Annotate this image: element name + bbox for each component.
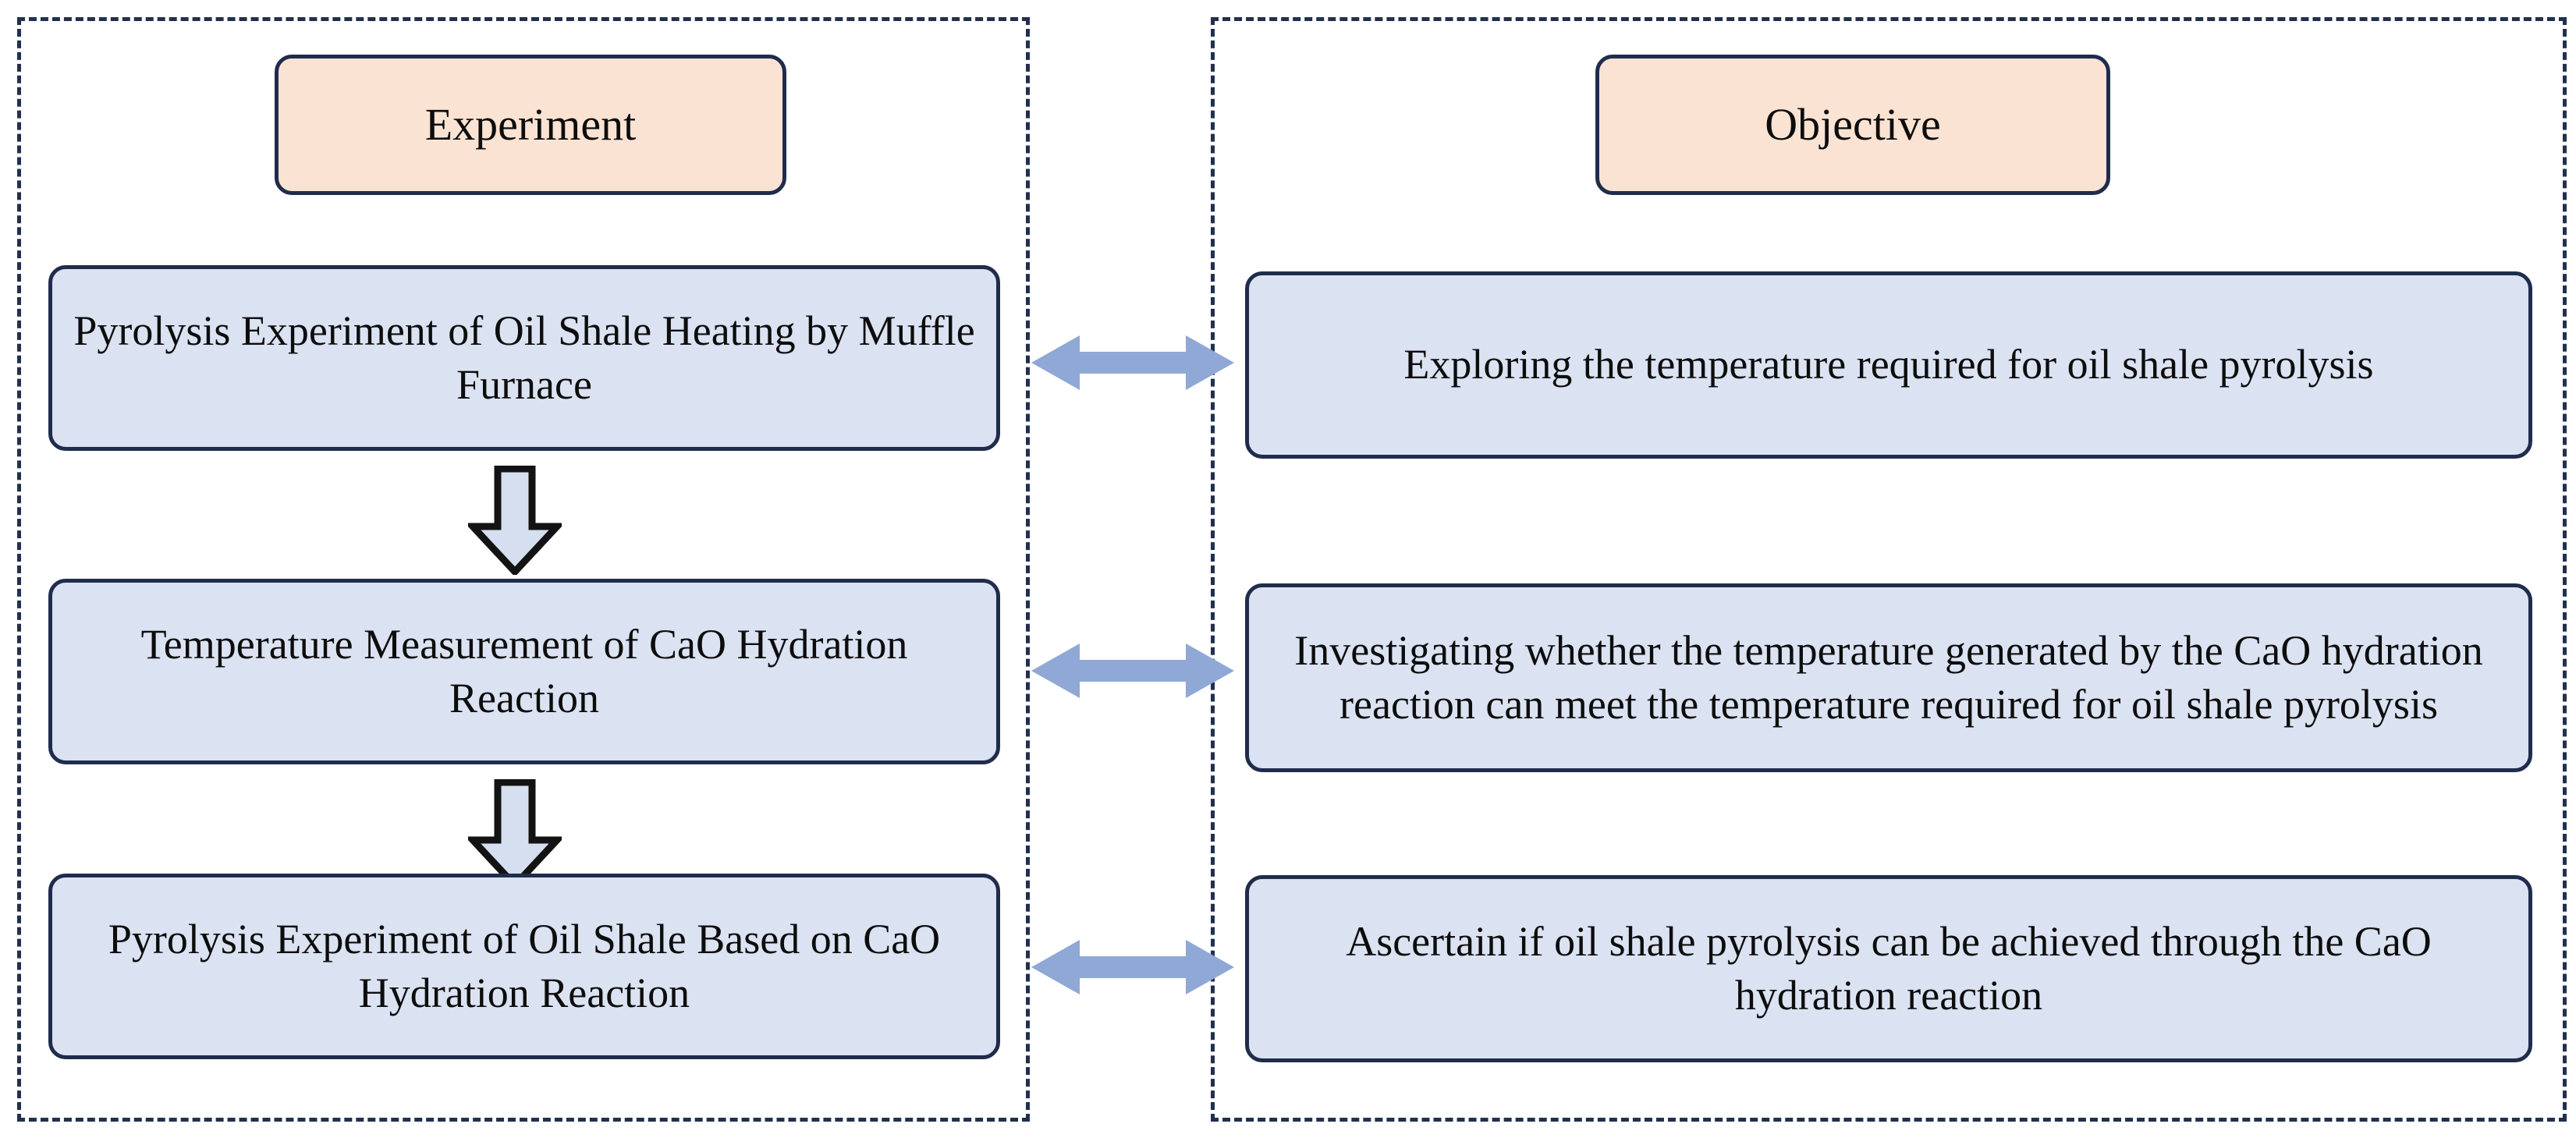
flow-down-arrow-2 (468, 779, 562, 888)
objective-step-2-box: Investigating whether the temperature ge… (1245, 583, 2532, 772)
experiment-step-2-label: Temperature Measurement of CaO Hydration… (66, 618, 982, 725)
objective-step-2-label: Investigating whether the temperature ge… (1263, 624, 2514, 732)
link-bidirectional-arrow-2 (1031, 628, 1234, 714)
diagram-canvas: Experiment Pyrolysis Experiment of Oil S… (0, 0, 2576, 1138)
objective-step-1-box: Exploring the temperature required for o… (1245, 271, 2532, 459)
link-bidirectional-arrow-1 (1031, 320, 1234, 406)
header-label-objective: Objective (1613, 96, 2092, 154)
experiment-step-3-box: Pyrolysis Experiment of Oil Shale Based … (48, 874, 1000, 1059)
header-box-experiment: Experiment (275, 55, 786, 195)
experiment-step-1-box: Pyrolysis Experiment of Oil Shale Heatin… (48, 265, 1000, 451)
experiment-step-1-label: Pyrolysis Experiment of Oil Shale Heatin… (66, 304, 982, 412)
objective-step-3-label: Ascertain if oil shale pyrolysis can be … (1263, 915, 2514, 1023)
experiment-step-3-label: Pyrolysis Experiment of Oil Shale Based … (66, 913, 982, 1020)
header-label-experiment: Experiment (293, 96, 768, 154)
objective-step-3-box: Ascertain if oil shale pyrolysis can be … (1245, 875, 2532, 1062)
objective-step-1-label: Exploring the temperature required for o… (1263, 338, 2514, 392)
experiment-step-2-box: Temperature Measurement of CaO Hydration… (48, 579, 1000, 764)
header-box-objective: Objective (1595, 55, 2110, 195)
link-bidirectional-arrow-3 (1031, 924, 1234, 1010)
flow-down-arrow-1 (468, 466, 562, 575)
